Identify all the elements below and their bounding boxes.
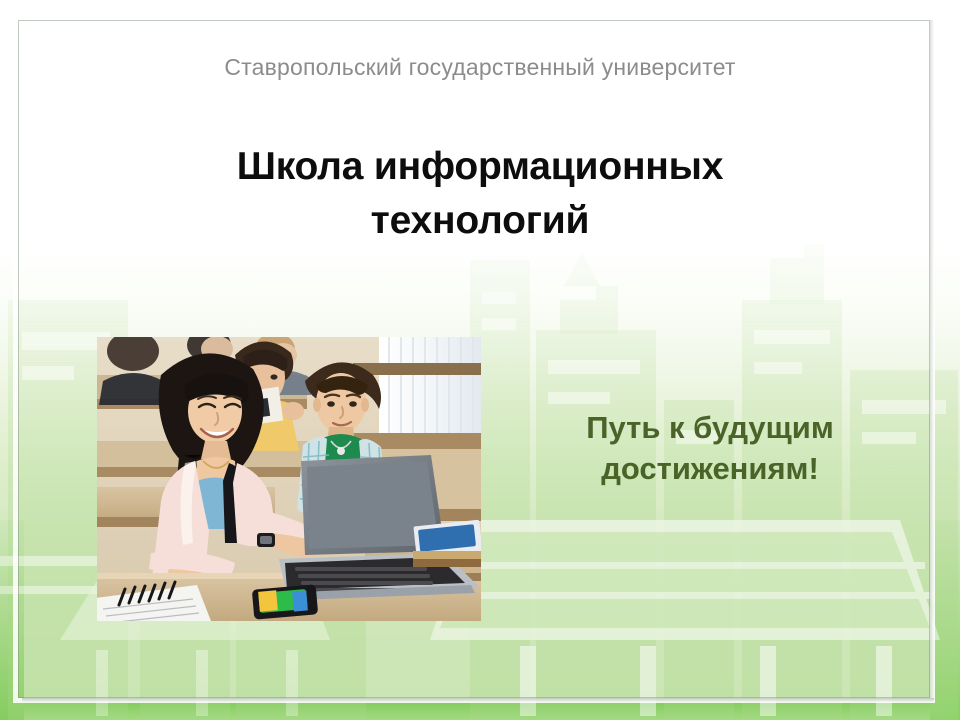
page-title: Школа информационных технологий (150, 140, 810, 248)
slide-tagline: Путь к будущим достижениям! (520, 407, 900, 489)
students-photo (97, 337, 481, 621)
organization-name: Ставропольский государственный университ… (0, 54, 960, 81)
presentation-slide: Ставропольский государственный университ… (0, 0, 960, 720)
slide-frame-shadow-right (930, 20, 934, 698)
slide-frame-shadow-bottom (22, 698, 934, 702)
students-at-laptop-image (97, 337, 481, 621)
